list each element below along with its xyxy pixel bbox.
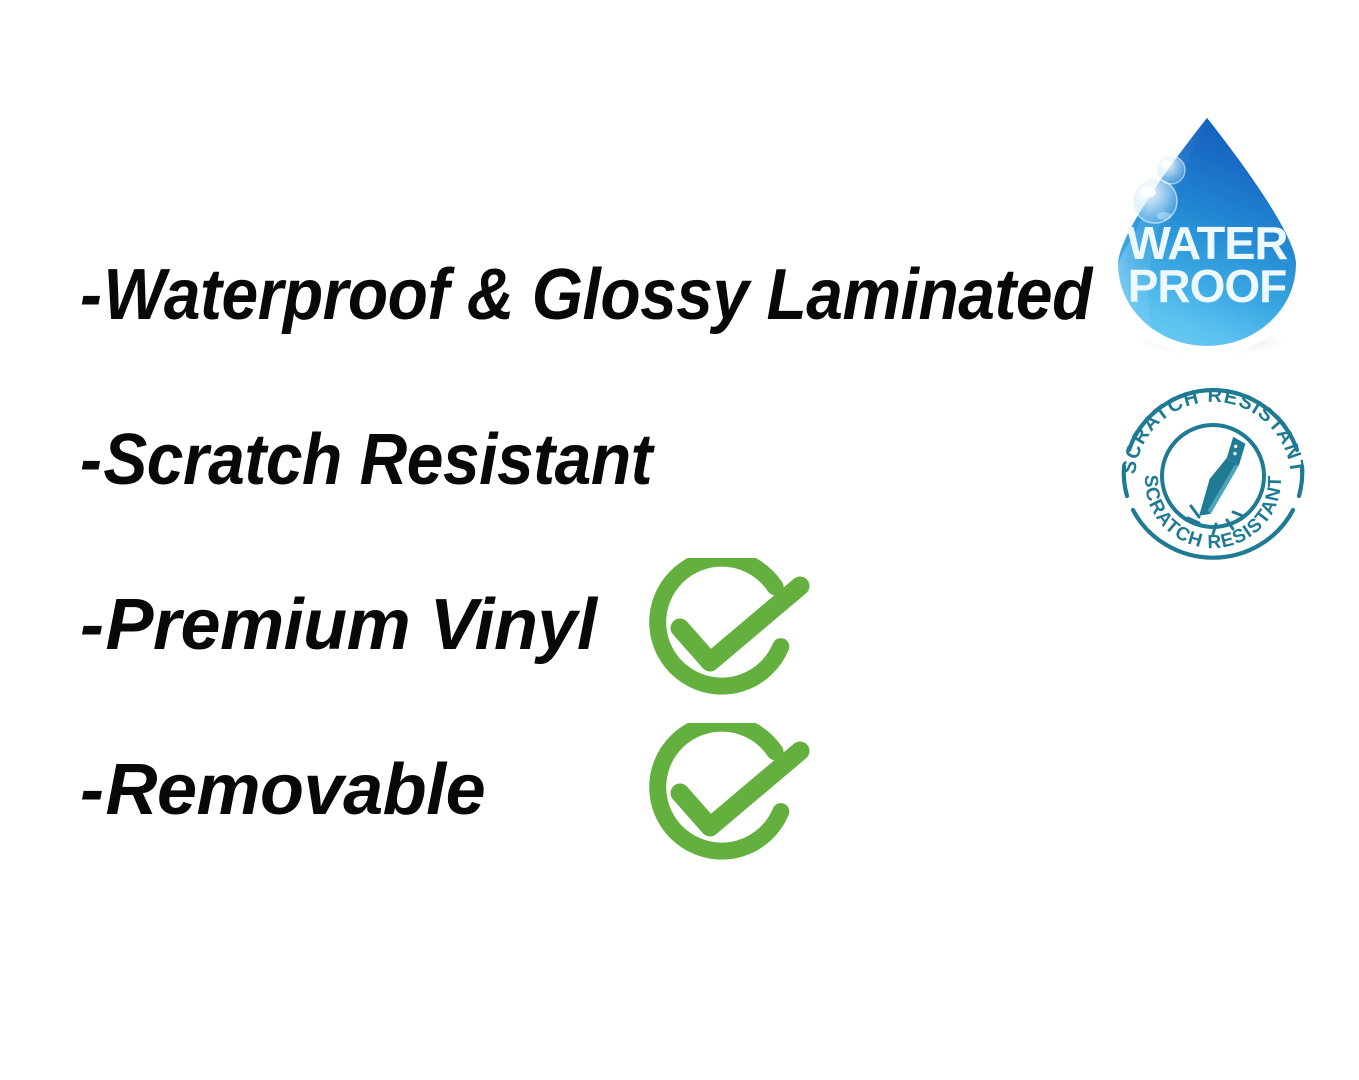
feature-dash: - [80,259,101,331]
feature-line-scratch-resistant: -Scratch Resistant [80,424,652,496]
droplet-bubble-small-glint [1161,161,1171,168]
waterproof-droplet-badge: WATER PROOF [1102,104,1318,356]
feature-line-waterproof: -Waterproof & Glossy Laminated [80,259,1092,331]
feature-dash: - [80,754,103,826]
scratch-mark-1 [1191,506,1199,517]
scratch-mark-5 [1233,512,1243,516]
scratch-resistant-stamp: SCRATCH RESISTANT SCRATCH RESISTANT [1113,384,1313,564]
feature-dash: - [80,424,101,496]
feature-label: Premium Vinyl [105,585,596,665]
feature-callout-graphic: -Waterproof & Glossy Laminated -Scratch … [0,0,1359,1080]
stamp-text-top: SCRATCH RESISTANT [1118,385,1308,476]
check-mark-removable [644,723,840,873]
feature-label: Waterproof & Glossy Laminated [103,255,1092,335]
knife-icon [1195,434,1248,522]
feature-line-removable: -Removable [80,754,485,826]
droplet-bubble-large-glint [1140,187,1156,197]
feature-line-premium-vinyl: -Premium Vinyl [80,589,596,661]
feature-label: Scratch Resistant [103,420,652,500]
droplet-text-line2: PROOF [1128,260,1287,312]
feature-label: Removable [105,750,485,830]
check-mark-premium-vinyl [644,558,840,708]
feature-dash: - [80,589,103,661]
